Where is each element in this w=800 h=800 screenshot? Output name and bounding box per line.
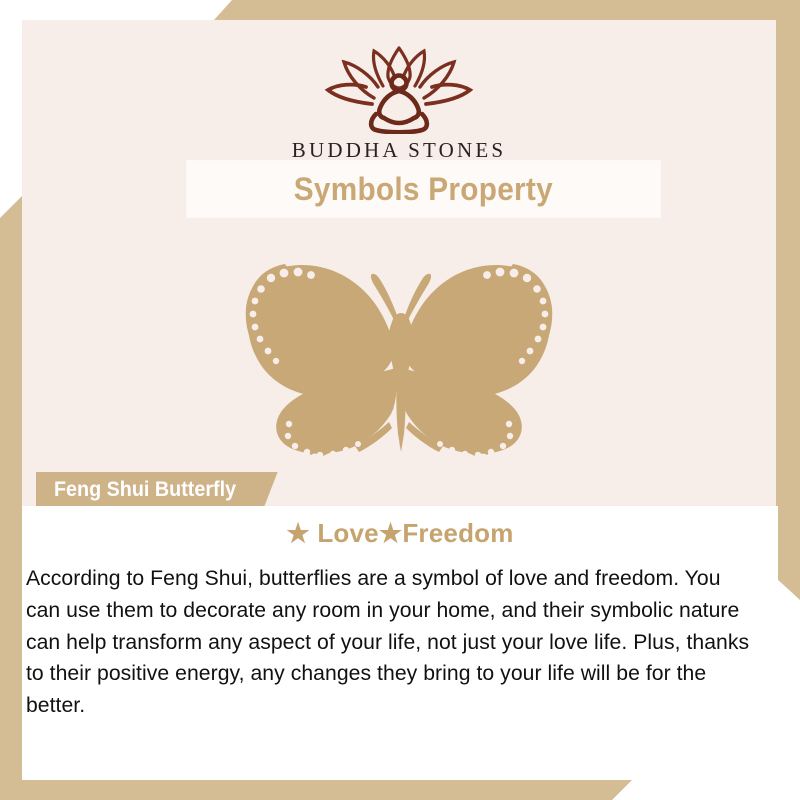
hero-graphic (22, 256, 776, 468)
gold-frame-right (776, 0, 800, 600)
tag-label: Feng Shui Butterfly (54, 478, 236, 502)
butterfly-icon (219, 256, 579, 468)
gold-frame-top (0, 0, 800, 20)
page-title: Symbols Property (294, 171, 553, 208)
hero-panel: BUDDHA STONES Symbols Property (22, 20, 776, 506)
feng-shui-butterfly-tag: Feng Shui Butterfly (36, 472, 278, 508)
brand-logo: BUDDHA STONES (22, 42, 776, 163)
title-band: Symbols Property (187, 161, 660, 217)
lotus-meditating-figure-icon (314, 42, 484, 134)
brand-wordmark: BUDDHA STONES (292, 138, 507, 163)
keywords-heading: ★ Love★Freedom (22, 506, 778, 549)
product-infographic-page: BUDDHA STONES Symbols Property (0, 0, 800, 800)
gold-frame-left (0, 196, 22, 800)
gold-frame-bottom (0, 780, 800, 800)
description-area: ★ Love★Freedom According to Feng Shui, b… (22, 506, 778, 780)
description-paragraph: According to Feng Shui, butterflies are … (22, 549, 767, 722)
